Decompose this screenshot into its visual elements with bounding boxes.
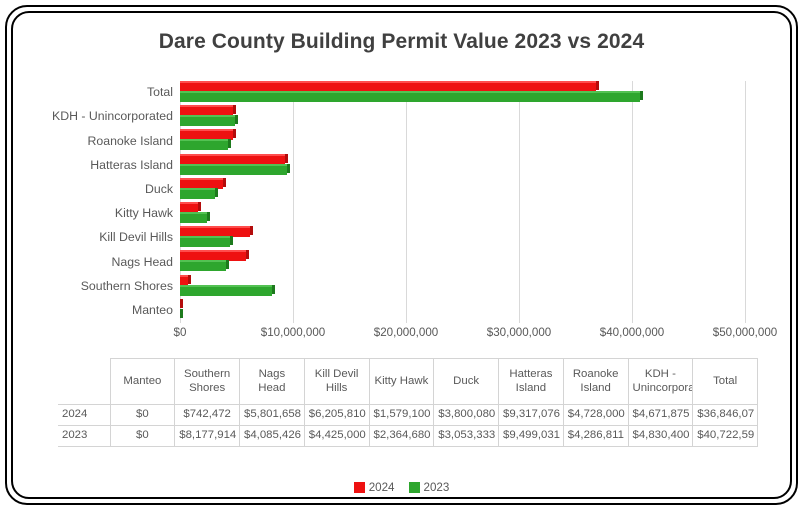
bar-3d-top xyxy=(180,226,250,228)
bar-group xyxy=(180,300,745,324)
table-cell: $3,053,333 xyxy=(434,426,499,447)
bar-group xyxy=(180,203,745,227)
column-header-label: Duck xyxy=(438,375,494,388)
bar-3d-top xyxy=(180,188,215,190)
tick-label: $10,000,000 xyxy=(261,326,325,339)
table-cell: $9,317,076 xyxy=(499,405,564,426)
bar-3d-top xyxy=(180,260,226,262)
bar-2023 xyxy=(180,166,287,175)
plot-region: TotalKDH - UnincorporatedRoanoke IslandH… xyxy=(13,68,792,353)
bar-3d-cap xyxy=(228,139,231,148)
bar-group xyxy=(180,82,745,106)
bar-2023 xyxy=(180,214,207,223)
table-cell: $1,579,100 xyxy=(369,405,434,426)
gridline xyxy=(745,81,746,323)
row-label: 2023 xyxy=(58,426,110,447)
bar-3d-top xyxy=(180,129,233,131)
tick-label: $40,000,000 xyxy=(600,326,664,339)
tick-label: $20,000,000 xyxy=(374,326,438,339)
bar-3d-cap xyxy=(180,299,183,308)
tick-label: $0 xyxy=(174,326,187,339)
category-label: Duck xyxy=(11,182,173,196)
bar-2023 xyxy=(180,141,228,150)
table-cell: $6,205,810 xyxy=(304,405,369,426)
table-cell: $4,830,400 xyxy=(628,426,693,447)
legend-item[interactable]: 2024 xyxy=(354,481,395,494)
table-cell: $2,364,680 xyxy=(369,426,434,447)
column-header-label: Kitty Hawk xyxy=(374,375,430,388)
column-header-label: Roanoke Island xyxy=(568,368,624,395)
bar-3d-cap xyxy=(226,260,229,269)
table-cell: $8,177,914 xyxy=(175,426,240,447)
table-row: 2023$0$8,177,914$4,085,426$4,425,000$2,3… xyxy=(58,426,758,447)
bar-2023 xyxy=(180,93,640,102)
category-label: Kitty Hawk xyxy=(11,206,173,220)
bar-3d-cap xyxy=(215,188,218,197)
bar-3d-cap xyxy=(198,202,201,211)
bar-group xyxy=(180,251,745,275)
bar-2023 xyxy=(180,287,272,296)
bar-3d-cap xyxy=(223,178,226,187)
bar-3d-cap xyxy=(287,164,290,173)
tick-label: $30,000,000 xyxy=(487,326,551,339)
bar-3d-top xyxy=(180,212,207,214)
table-cell: $9,499,031 xyxy=(499,426,564,447)
column-header-label: Manteo xyxy=(115,375,171,388)
category-label: KDH - Unincorporated xyxy=(11,109,173,123)
bar-group xyxy=(180,179,745,203)
bar-2023 xyxy=(180,262,226,271)
table-cell: $4,286,811 xyxy=(563,426,628,447)
bar-3d-top xyxy=(180,275,188,277)
table-cell: $4,085,426 xyxy=(240,426,305,447)
table-cell: $4,728,000 xyxy=(563,405,628,426)
table-cell: $3,800,080 xyxy=(434,405,499,426)
bar-2023 xyxy=(180,190,215,199)
data-table: ManteoSouthern ShoresNags HeadKill Devil… xyxy=(58,358,758,447)
bar-3d-cap xyxy=(640,91,643,100)
bar-3d-top xyxy=(180,236,230,238)
bar-3d-cap xyxy=(233,105,236,114)
bar-3d-cap xyxy=(285,154,288,163)
bar-3d-top xyxy=(180,285,272,287)
bar-2023 xyxy=(180,238,230,247)
table-header-row: ManteoSouthern ShoresNags HeadKill Devil… xyxy=(58,359,758,405)
bar-3d-cap xyxy=(233,129,236,138)
column-header: Nags Head xyxy=(240,359,305,405)
bar-3d-top xyxy=(180,164,287,166)
column-header: Southern Shores xyxy=(175,359,240,405)
bar-3d-cap xyxy=(596,81,599,90)
legend-swatch-icon xyxy=(409,482,420,493)
column-header: KDH - Unincorporated xyxy=(628,359,693,405)
chart-frame-outer: Dare County Building Permit Value 2023 v… xyxy=(5,5,798,505)
bar-3d-cap xyxy=(250,226,253,235)
column-header: Roanoke Island xyxy=(563,359,628,405)
category-label: Roanoke Island xyxy=(11,134,173,148)
table-cell: $40,722,59 xyxy=(693,426,758,447)
bar-3d-top xyxy=(180,154,285,156)
column-header: Duck xyxy=(434,359,499,405)
bar-group xyxy=(180,130,745,154)
bar-3d-top xyxy=(180,91,640,93)
column-header-label: Kill Devil Hills xyxy=(309,368,365,395)
page-title: Dare County Building Permit Value 2023 v… xyxy=(13,30,790,54)
bar-group xyxy=(180,155,745,179)
legend-swatch-icon xyxy=(354,482,365,493)
bar-3d-cap xyxy=(188,275,191,284)
column-header: Kill Devil Hills xyxy=(304,359,369,405)
category-label: Southern Shores xyxy=(11,279,173,293)
bar-group xyxy=(180,276,745,300)
bar-group xyxy=(180,227,745,251)
table-cell: $0 xyxy=(110,405,175,426)
plot-area xyxy=(180,81,745,323)
legend-label: 2023 xyxy=(424,481,450,494)
row-label: 2024 xyxy=(58,405,110,426)
bar-3d-cap xyxy=(207,212,210,221)
table-cell: $5,801,658 xyxy=(240,405,305,426)
table-corner-cell xyxy=(58,359,110,405)
bar-3d-top xyxy=(180,139,228,141)
column-header: Kitty Hawk xyxy=(369,359,434,405)
legend-label: 2024 xyxy=(369,481,395,494)
chart-legend: 20242023 xyxy=(13,481,790,494)
legend-item[interactable]: 2023 xyxy=(409,481,450,494)
tick-label: $50,000,000 xyxy=(713,326,777,339)
table-body: 2024$0$742,472$5,801,658$6,205,810$1,579… xyxy=(58,405,758,447)
column-header: Manteo xyxy=(110,359,175,405)
column-header-label: Southern Shores xyxy=(179,368,235,395)
bar-3d-cap xyxy=(180,309,183,318)
table-cell: $742,472 xyxy=(175,405,240,426)
column-header-label: Nags Head xyxy=(244,368,300,395)
column-header: Hatteras Island xyxy=(499,359,564,405)
bar-2023 xyxy=(180,117,235,126)
bar-group xyxy=(180,106,745,130)
column-header-label: Total xyxy=(697,375,753,388)
bar-3d-cap xyxy=(230,236,233,245)
chart-frame-inner: Dare County Building Permit Value 2023 v… xyxy=(11,11,792,499)
bar-3d-top xyxy=(180,105,233,107)
table-cell: $4,425,000 xyxy=(304,426,369,447)
column-header-label: Hatteras Island xyxy=(503,368,559,395)
table-cell: $0 xyxy=(110,426,175,447)
bar-3d-top xyxy=(180,202,198,204)
table-cell: $4,671,875 xyxy=(628,405,693,426)
table-header: ManteoSouthern ShoresNags HeadKill Devil… xyxy=(58,359,758,405)
column-header-label: KDH - Unincorporated xyxy=(633,368,689,395)
bar-3d-top xyxy=(180,250,246,252)
bar-3d-top xyxy=(180,81,596,83)
bar-3d-top xyxy=(180,178,223,180)
bar-3d-cap xyxy=(272,285,275,294)
category-label: Kill Devil Hills xyxy=(11,230,173,244)
category-label: Nags Head xyxy=(11,255,173,269)
bar-3d-top xyxy=(180,115,235,117)
bar-3d-cap xyxy=(235,115,238,124)
category-label: Total xyxy=(11,85,173,99)
category-label: Manteo xyxy=(11,303,173,317)
bar-3d-cap xyxy=(246,250,249,259)
category-label: Hatteras Island xyxy=(11,158,173,172)
table-row: 2024$0$742,472$5,801,658$6,205,810$1,579… xyxy=(58,405,758,426)
column-header: Total xyxy=(693,359,758,405)
table-cell: $36,846,07 xyxy=(693,405,758,426)
